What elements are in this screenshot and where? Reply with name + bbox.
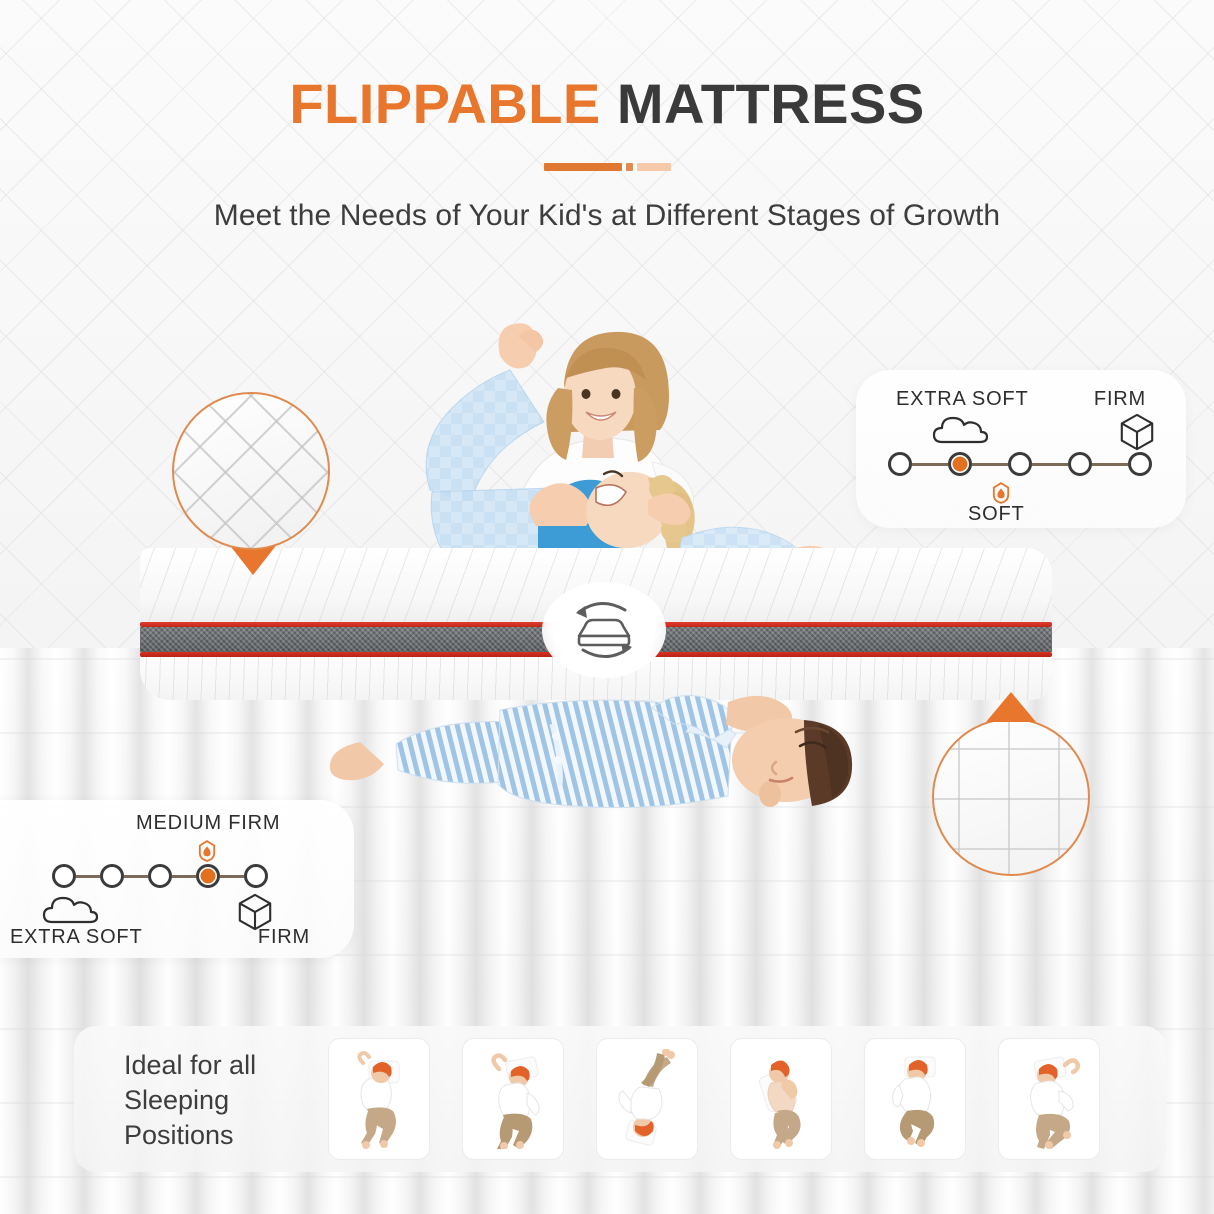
sleep-position-card[interactable] bbox=[328, 1038, 430, 1160]
firmness-dot-2[interactable] bbox=[100, 864, 124, 888]
photo-kids-playing bbox=[352, 292, 872, 580]
page-title: FLIPPABLE MATTRESS bbox=[0, 76, 1214, 132]
sleeping-positions-list bbox=[328, 1038, 1100, 1160]
cloud-icon bbox=[932, 416, 988, 451]
callout-pointer-up-icon bbox=[986, 692, 1036, 722]
shield-marker-icon bbox=[198, 840, 216, 867]
title-divider bbox=[537, 162, 677, 171]
sleep-position-card[interactable] bbox=[462, 1038, 564, 1160]
firmness-dot-3[interactable] bbox=[1008, 452, 1032, 476]
quilting-detail-right bbox=[932, 718, 1090, 876]
header-block: FLIPPABLE MATTRESS Meet the Needs of You… bbox=[0, 0, 1214, 233]
page-title-accent: FLIPPABLE bbox=[289, 72, 600, 135]
firmness-selected-label: SOFT bbox=[968, 503, 1025, 526]
sleep-position-card[interactable] bbox=[596, 1038, 698, 1160]
firmness-dot-5[interactable] bbox=[244, 864, 268, 888]
infographic-canvas: FLIPPABLE MATTRESS Meet the Needs of You… bbox=[0, 0, 1214, 1214]
scale-segment bbox=[1032, 463, 1068, 466]
flip-mattress-icon bbox=[542, 582, 666, 678]
scale-segment bbox=[76, 875, 100, 878]
divider-segment-long bbox=[544, 163, 622, 171]
scale-segment bbox=[972, 463, 1008, 466]
page-subtitle: Meet the Needs of Your Kid's at Differen… bbox=[0, 199, 1214, 233]
quilting-detail-left bbox=[172, 392, 330, 550]
divider-segment-light bbox=[637, 163, 671, 171]
firmness-right-label: FIRM bbox=[258, 926, 310, 949]
cube-icon bbox=[1118, 412, 1156, 457]
firmness-selected-label: MEDIUM FIRM bbox=[136, 812, 280, 835]
firmness-left-label: EXTRA SOFT bbox=[10, 926, 142, 949]
scale-segment bbox=[1092, 463, 1128, 466]
firmness-left-label: EXTRA SOFT bbox=[896, 388, 1028, 411]
photo-sleeping-boy bbox=[300, 684, 880, 820]
firmness-dot-4-selected[interactable] bbox=[196, 864, 220, 888]
sleep-position-card[interactable] bbox=[730, 1038, 832, 1160]
firmness-dot-2-selected[interactable] bbox=[948, 452, 972, 476]
firmness-dot-1[interactable] bbox=[52, 864, 76, 888]
page-title-rest: MATTRESS bbox=[617, 72, 925, 135]
scale-segment bbox=[912, 463, 948, 466]
scale-segment bbox=[220, 875, 244, 878]
firmness-scale-medium-firm-card: MEDIUM FIRM bbox=[0, 800, 354, 958]
sleep-position-card[interactable] bbox=[864, 1038, 966, 1160]
sleeping-positions-heading: Ideal for all Sleeping Positions bbox=[124, 1048, 256, 1153]
divider-segment-dot bbox=[626, 163, 633, 171]
sleep-position-card[interactable] bbox=[998, 1038, 1100, 1160]
firmness-dot-4[interactable] bbox=[1068, 452, 1092, 476]
scale-segment bbox=[172, 875, 196, 878]
firmness-dot-1[interactable] bbox=[888, 452, 912, 476]
firmness-right-label: FIRM bbox=[1094, 388, 1146, 411]
scale-segment bbox=[124, 875, 148, 878]
firmness-scale-soft-card: EXTRA SOFT FIRM bbox=[856, 370, 1186, 528]
firmness-dot-3[interactable] bbox=[148, 864, 172, 888]
firmness-dot-5[interactable] bbox=[1128, 452, 1152, 476]
firmness-scale-track bbox=[888, 452, 1154, 476]
firmness-scale-track bbox=[52, 864, 270, 888]
sleeping-positions-bar: Ideal for all Sleeping Positions bbox=[74, 1026, 1166, 1172]
